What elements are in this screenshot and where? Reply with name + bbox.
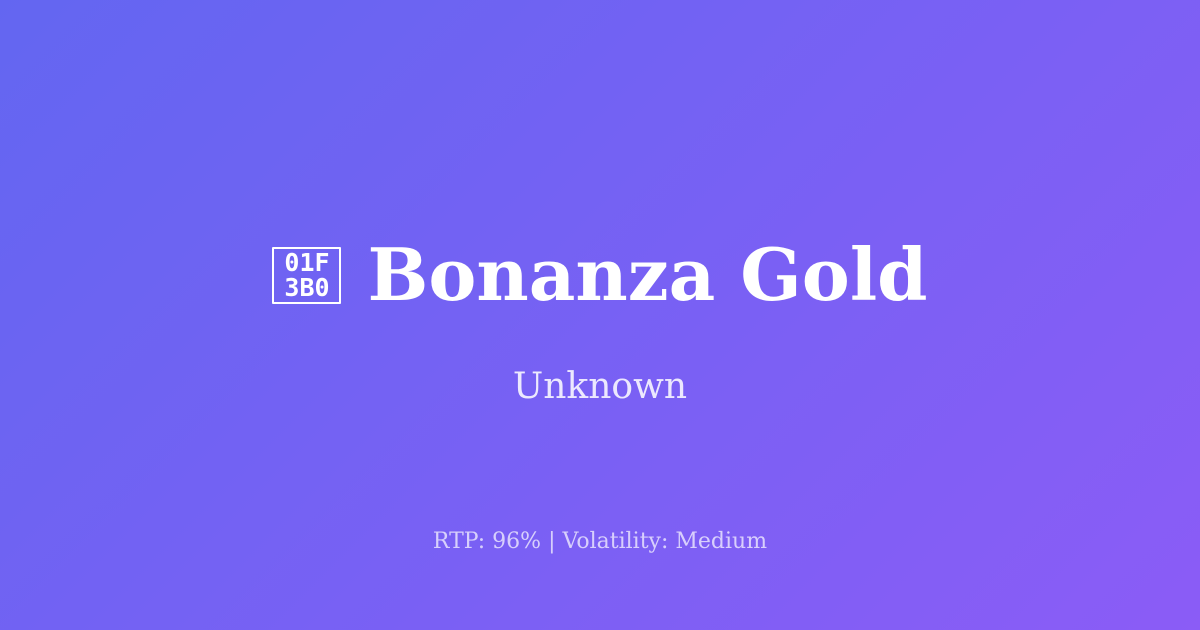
page-title: Bonanza Gold <box>367 236 927 314</box>
slot-machine-icon: 01F 3B0 <box>272 247 341 304</box>
slot-machine-icon-hex-top: 01F <box>284 250 329 275</box>
game-preview-card: 01F 3B0 Bonanza Gold Unknown RTP: 96% | … <box>0 0 1200 630</box>
slot-machine-icon-hex-bottom: 3B0 <box>284 275 329 300</box>
game-stats-line: RTP: 96% | Volatility: Medium <box>0 528 1200 556</box>
title-row: 01F 3B0 Bonanza Gold <box>0 232 1200 318</box>
provider-label: Unknown <box>0 366 1200 408</box>
